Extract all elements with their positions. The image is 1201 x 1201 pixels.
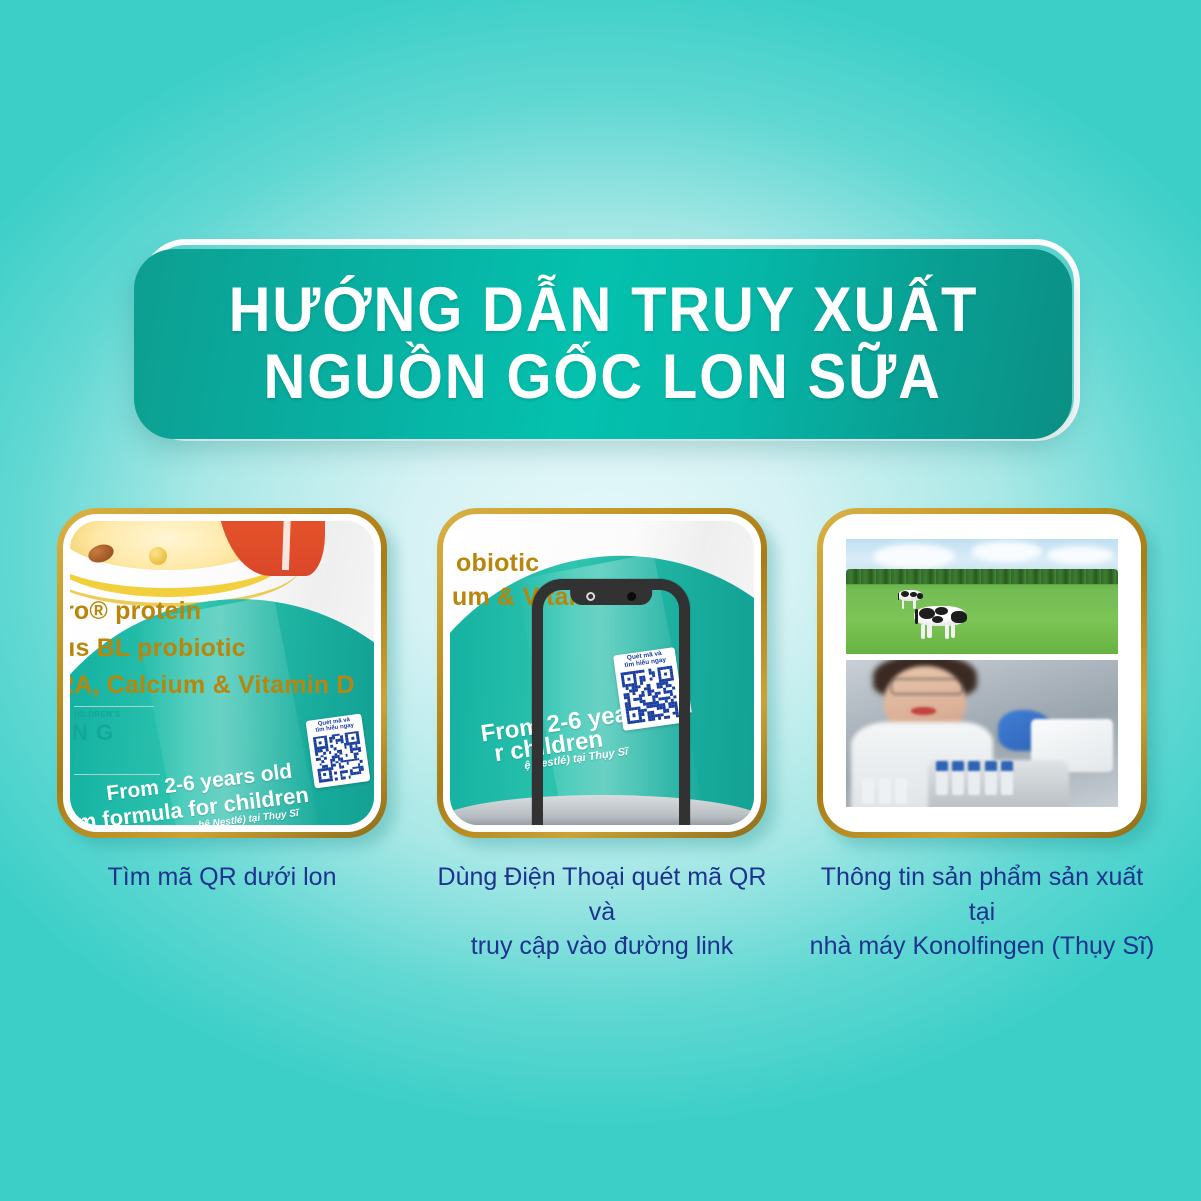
sample-vial <box>895 778 907 804</box>
can-text-line-2: us BL probiotic <box>70 634 246 663</box>
cloud-icon <box>873 544 955 569</box>
cow-leg <box>921 624 925 639</box>
can-divider-2 <box>74 774 160 775</box>
can-text-line-3: RA, Calcium & Vitamin D <box>70 671 355 700</box>
caption-line-2: nhà máy Konolfingen (Thụy Sĩ) <box>807 929 1157 964</box>
can-text-line-1: obiotic <box>456 549 539 578</box>
safety-glasses-icon <box>890 678 965 695</box>
cloud-icon <box>971 541 1042 562</box>
cow-leg <box>927 624 931 638</box>
card-white-inset: ro® protein us BL probiotic RA, Calcium … <box>63 514 381 832</box>
test-tube <box>1001 761 1013 795</box>
can-divider <box>74 706 154 707</box>
test-tube <box>985 761 997 795</box>
caption-line-1: Thông tin sản phẩm sản xuất tại <box>807 860 1157 929</box>
camera-ring-icon <box>586 592 595 601</box>
milk-can-artwork: ro® protein us BL probiotic RA, Calcium … <box>70 521 374 825</box>
photo-lab-technician <box>846 660 1118 807</box>
tree-line <box>846 569 1118 584</box>
cow-head <box>951 611 967 623</box>
card-row: ro® protein us BL probiotic RA, Calcium … <box>0 508 1201 848</box>
sample-vial <box>862 778 874 804</box>
can-badge-small: HILDREN'S <box>74 710 120 719</box>
cow-near <box>914 606 966 638</box>
cow-leg <box>945 624 949 639</box>
card-find-qr[interactable]: ro® protein us BL probiotic RA, Calcium … <box>57 508 387 838</box>
banner-title-line-1: HƯỚNG DẪN TRUY XUẤT <box>228 277 978 344</box>
technician-lips <box>911 707 935 714</box>
caption-find-qr: Tìm mã QR dưới lon <box>57 860 387 895</box>
title-banner: HƯỚNG DẪN TRUY XUẤT NGUỒN GỐC LON SỮA <box>134 233 1088 449</box>
grain-dot-icon <box>149 547 167 565</box>
grass-field <box>846 585 1118 654</box>
caption-line-2: truy cập vào đường link <box>427 929 777 964</box>
cow-tail <box>898 593 899 600</box>
test-tube <box>968 761 980 795</box>
caption-scan-qr: Dùng Điện Thoại quét mã QR và truy cập v… <box>427 860 777 964</box>
smartphone-outline <box>532 579 690 825</box>
card-photo-scan-qr: obiotic um & Vitamin D From 2-6 years ol… <box>450 521 754 825</box>
cow-spot <box>901 591 909 597</box>
sample-vial <box>879 778 891 804</box>
card-origin-info[interactable] <box>817 508 1147 838</box>
cow-leg <box>902 600 904 608</box>
can-text-line-1: ro® protein <box>70 597 201 626</box>
card-photo-find-qr: ro® protein us BL probiotic RA, Calcium … <box>70 521 374 825</box>
test-tube <box>936 761 948 795</box>
photo-dairy-pasture <box>846 539 1118 654</box>
cow-head <box>917 593 923 599</box>
card-gold-frame: ro® protein us BL probiotic RA, Calcium … <box>57 508 387 838</box>
caption-row: Tìm mã QR dưới lon Dùng Điện Thoại quét … <box>0 860 1201 940</box>
can-badge-big: N G <box>72 720 114 746</box>
caption-line-1: Dùng Điện Thoại quét mã QR và <box>427 860 777 929</box>
qr-code-sticker[interactable]: Quét mã và tìm hiểu ngay <box>306 713 371 788</box>
infographic-canvas: HƯỚNG DẪN TRUY XUẤT NGUỒN GỐC LON SỮA <box>0 0 1201 1201</box>
cow-leg <box>951 624 955 638</box>
banner-title-line-2: NGUỒN GỐC LON SỮA <box>264 344 942 411</box>
photo-stack <box>830 521 1134 825</box>
cow-spot <box>910 592 916 597</box>
camera-dot-icon <box>627 592 636 601</box>
cloud-icon <box>1047 546 1112 564</box>
card-white-inset <box>823 514 1141 832</box>
card-gold-frame <box>817 508 1147 838</box>
banner-panel: HƯỚNG DẪN TRUY XUẤT NGUỒN GỐC LON SỮA <box>134 249 1072 439</box>
test-tube-rack <box>928 760 1069 807</box>
caption-origin-info: Thông tin sản phẩm sản xuất tại nhà máy … <box>807 860 1157 964</box>
test-tube <box>952 761 964 795</box>
card-gold-frame: obiotic um & Vitamin D From 2-6 years ol… <box>437 508 767 838</box>
card-scan-qr[interactable]: obiotic um & Vitamin D From 2-6 years ol… <box>437 508 767 838</box>
can-badge-tick <box>76 750 78 764</box>
card-white-inset: obiotic um & Vitamin D From 2-6 years ol… <box>443 514 761 832</box>
cow-tail <box>915 609 918 624</box>
phone-notch <box>570 589 652 605</box>
qr-code-matrix <box>313 731 365 783</box>
caption-line-1: Tìm mã QR dưới lon <box>57 860 387 895</box>
card-photo-origin <box>830 521 1134 825</box>
